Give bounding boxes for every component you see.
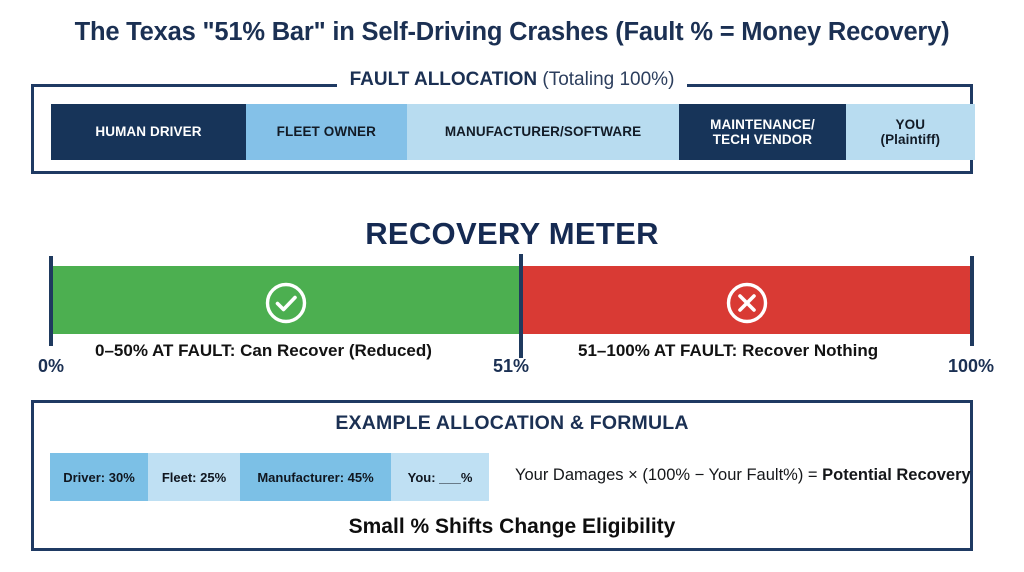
- formula-result: Potential Recovery: [822, 466, 971, 484]
- fault-allocation-bar: HUMAN DRIVERFLEET OWNERMANUFACTURER/SOFT…: [51, 104, 975, 160]
- meter-tick-start: [49, 256, 53, 346]
- fault-segment-label: HUMAN DRIVER: [95, 124, 201, 140]
- recovery-formula: Your Damages × (100% − Your Fault%) = Po…: [515, 466, 971, 485]
- example-segment-label: Fleet: 25%: [162, 470, 226, 485]
- check-circle-icon: [264, 281, 308, 325]
- example-segment: You: ___%: [391, 453, 489, 501]
- closing-statement: Small % Shifts Change Eligibility: [0, 515, 1024, 539]
- formula-expression: Your Damages × (100% − Your Fault%) =: [515, 466, 822, 484]
- recovery-meter-title: RECOVERY METER: [0, 216, 1024, 252]
- meter-tick-threshold: [519, 254, 523, 358]
- fault-segment-label: YOU: [896, 117, 926, 132]
- example-panel-title: EXAMPLE ALLOCATION & FORMULA: [0, 412, 1024, 435]
- fault-segment-label-line2: (Plaintiff): [880, 132, 940, 147]
- fault-segment: YOU(Plaintiff): [846, 104, 975, 160]
- meter-green-caption: 0–50% AT FAULT: Can Recover (Reduced): [95, 341, 432, 361]
- example-segment: Driver: 30%: [50, 453, 148, 501]
- meter-tick-end: [970, 256, 974, 346]
- fault-segment-label: FLEET OWNER: [277, 124, 376, 140]
- fault-segment-label-line2: TECH VENDOR: [713, 132, 812, 147]
- fault-segment: MANUFACTURER/SOFTWARE: [407, 104, 680, 160]
- example-segment-label: You: ___%: [408, 470, 473, 485]
- page-title: The Texas "51% Bar" in Self-Driving Cras…: [0, 18, 1024, 47]
- example-segment: Fleet: 25%: [148, 453, 240, 501]
- fault-segment-label: MAINTENANCE/: [710, 117, 815, 132]
- fault-segment: HUMAN DRIVER: [51, 104, 246, 160]
- meter-axis-label-end: 100%: [948, 356, 994, 377]
- meter-green-zone: [51, 266, 521, 334]
- example-segment-label: Manufacturer: 45%: [257, 470, 373, 485]
- example-segment-label: Driver: 30%: [63, 470, 135, 485]
- meter-red-zone: [521, 266, 972, 334]
- example-allocation-bar: Driver: 30%Fleet: 25%Manufacturer: 45%Yo…: [50, 453, 489, 501]
- fault-segment: FLEET OWNER: [246, 104, 407, 160]
- meter-red-caption: 51–100% AT FAULT: Recover Nothing: [578, 341, 878, 361]
- fault-segment: MAINTENANCE/TECH VENDOR: [679, 104, 845, 160]
- fault-segment-label: MANUFACTURER/SOFTWARE: [445, 124, 641, 140]
- meter-axis-label-start: 0%: [38, 356, 64, 377]
- meter-axis-label-threshold: 51%: [493, 356, 529, 377]
- x-circle-icon: [725, 281, 769, 325]
- example-segment: Manufacturer: 45%: [240, 453, 391, 501]
